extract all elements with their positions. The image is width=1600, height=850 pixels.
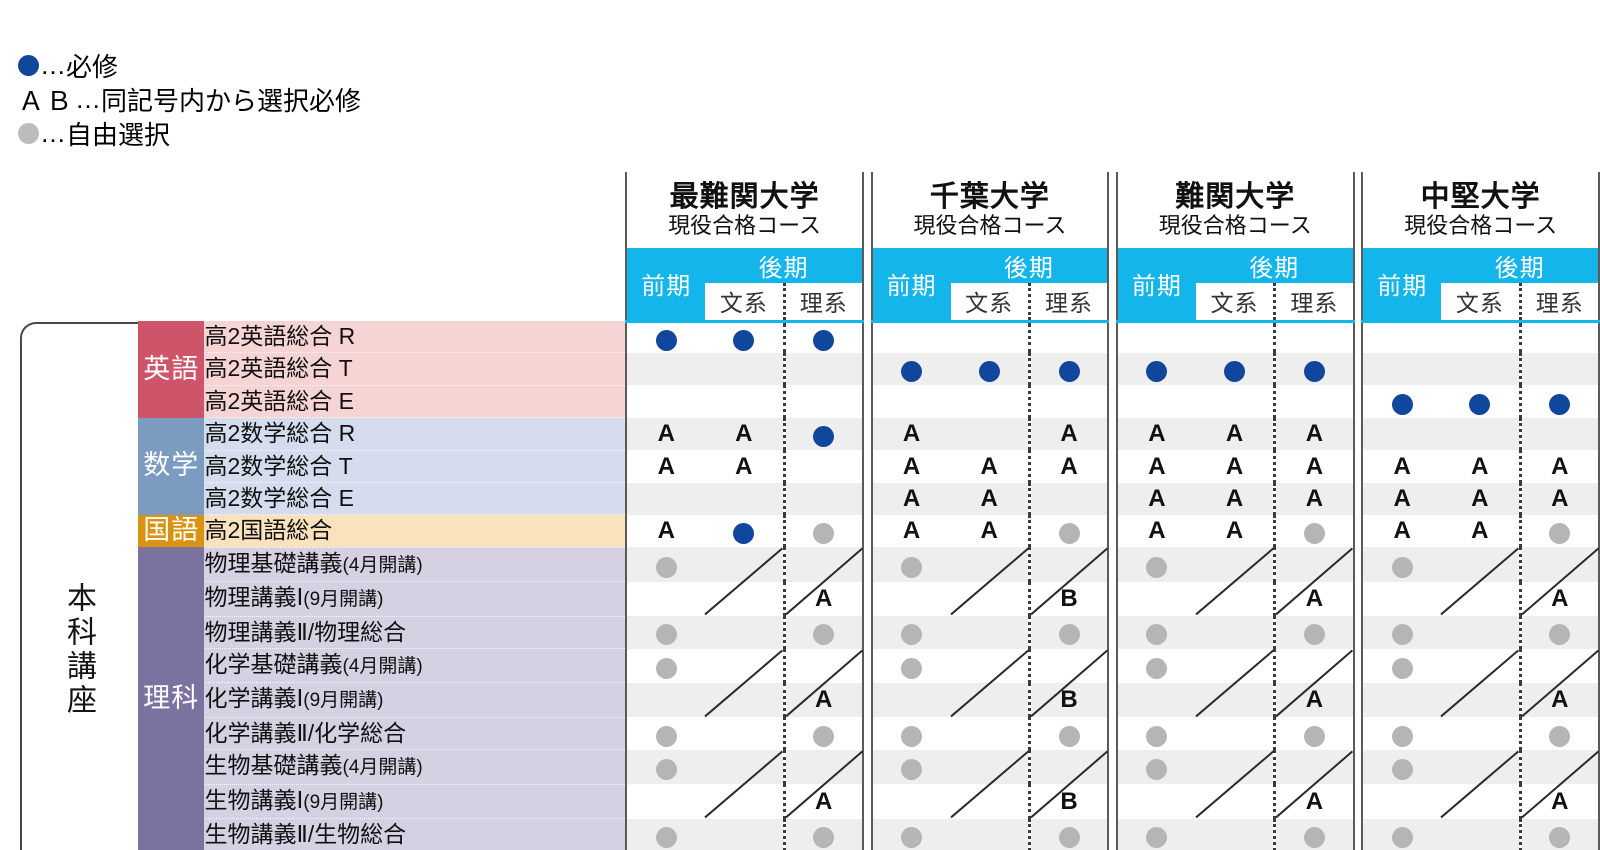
matrix-cell[interactable] xyxy=(1520,649,1599,683)
matrix-cell[interactable] xyxy=(705,784,784,818)
matrix-cell[interactable] xyxy=(872,717,951,749)
matrix-cell[interactable] xyxy=(784,483,863,515)
matrix-cell[interactable] xyxy=(1029,750,1108,784)
matrix-cell[interactable]: A xyxy=(1275,683,1354,717)
matrix-cell[interactable] xyxy=(1117,616,1196,648)
matrix-cell[interactable]: A xyxy=(1275,582,1354,616)
course-note: (4月開講) xyxy=(342,757,422,778)
choice-marker: A xyxy=(951,483,1028,514)
matrix-cell[interactable]: B xyxy=(1029,683,1108,717)
university-name: 最難関大学 xyxy=(627,181,862,213)
matrix-cell[interactable] xyxy=(1275,819,1354,850)
column-gap xyxy=(863,248,872,283)
matrix-cell[interactable]: A xyxy=(1275,418,1354,450)
matrix-cell[interactable]: A xyxy=(872,515,951,547)
table-row: 高2数学総合 TAAAAAAAAAAA xyxy=(18,450,1599,482)
matrix-cell[interactable] xyxy=(784,547,863,581)
matrix-cell[interactable] xyxy=(1441,784,1520,818)
table-row: 本科講座英語高2英語総合 R xyxy=(18,321,1599,353)
subject-block-数学: 数学 xyxy=(138,418,204,515)
matrix-cell[interactable] xyxy=(626,750,705,784)
matrix-cell[interactable] xyxy=(1275,616,1354,648)
matrix-cell[interactable]: A xyxy=(1196,515,1275,547)
matrix-cell[interactable] xyxy=(705,683,784,717)
matrix-cell[interactable] xyxy=(784,819,863,850)
matrix-cell[interactable] xyxy=(1029,717,1108,749)
matrix-cell[interactable] xyxy=(784,717,863,749)
matrix-cell[interactable] xyxy=(951,819,1030,850)
free-choice-dot-icon xyxy=(901,827,922,848)
matrix-cell[interactable] xyxy=(1275,353,1354,385)
matrix-cell[interactable] xyxy=(1117,649,1196,683)
matrix-cell[interactable] xyxy=(1029,321,1108,353)
matrix-cell[interactable]: A xyxy=(951,483,1030,515)
column-gap xyxy=(863,649,872,683)
free-choice-dot-icon xyxy=(901,557,922,578)
matrix-cell[interactable] xyxy=(1520,547,1599,581)
matrix-cell[interactable] xyxy=(1520,353,1599,385)
choice-marker: A xyxy=(786,684,862,715)
matrix-cell[interactable] xyxy=(705,819,784,850)
choice-marker: A xyxy=(1363,515,1441,546)
free-choice-dot-icon xyxy=(656,827,677,848)
course-title: 物理基礎講義 xyxy=(204,550,342,576)
header-subject-blank xyxy=(138,172,204,321)
matrix-cell[interactable]: A xyxy=(784,784,863,818)
course-name: 生物基礎講義(4月開講) xyxy=(204,750,626,784)
matrix-cell[interactable] xyxy=(1441,649,1520,683)
choice-marker: A xyxy=(1441,483,1518,514)
matrix-cell[interactable] xyxy=(626,321,705,353)
matrix-cell[interactable]: A xyxy=(1029,418,1108,450)
matrix-cell[interactable] xyxy=(951,717,1030,749)
required-dot-icon xyxy=(1059,361,1080,382)
column-gap xyxy=(863,418,872,450)
matrix-cell[interactable] xyxy=(705,717,784,749)
matrix-cell[interactable]: A xyxy=(705,418,784,450)
matrix-cell[interactable] xyxy=(1441,683,1520,717)
matrix-cell[interactable] xyxy=(1362,385,1441,417)
matrix-cell[interactable] xyxy=(951,649,1030,683)
matrix-cell[interactable] xyxy=(784,321,863,353)
course-title: 生物講義Ⅰ xyxy=(204,787,303,813)
column-gap xyxy=(863,450,872,482)
column-gap xyxy=(1108,547,1117,581)
matrix-cell[interactable] xyxy=(1196,717,1275,749)
course-name: 化学講義Ⅱ/化学総合 xyxy=(204,717,626,749)
course-title: 高2英語総合 T xyxy=(204,355,352,381)
matrix-cell[interactable]: B xyxy=(1029,784,1108,818)
matrix-cell[interactable]: A xyxy=(1362,483,1441,515)
column-gap xyxy=(1354,385,1363,417)
matrix-cell[interactable] xyxy=(1029,385,1108,417)
matrix-cell[interactable] xyxy=(1196,385,1275,417)
matrix-cell[interactable] xyxy=(951,750,1030,784)
matrix-cell[interactable] xyxy=(1362,649,1441,683)
matrix-cell[interactable]: A xyxy=(784,582,863,616)
matrix-cell[interactable]: A xyxy=(1441,515,1520,547)
matrix-cell[interactable]: A xyxy=(1275,450,1354,482)
matrix-cell[interactable]: A xyxy=(1275,483,1354,515)
table-row: 高2英語総合 T xyxy=(18,353,1599,385)
matrix-cell[interactable] xyxy=(1117,819,1196,850)
matrix-cell[interactable] xyxy=(1441,547,1520,581)
matrix-cell[interactable] xyxy=(1362,750,1441,784)
matrix-cell[interactable]: A xyxy=(1520,582,1599,616)
matrix-cell[interactable] xyxy=(872,649,951,683)
matrix-cell[interactable] xyxy=(1441,385,1520,417)
matrix-cell[interactable] xyxy=(1275,515,1354,547)
university-name: 難関大学 xyxy=(1118,181,1353,213)
matrix-cell[interactable] xyxy=(1362,717,1441,749)
column-gap xyxy=(1108,418,1117,450)
matrix-cell[interactable] xyxy=(1196,353,1275,385)
course-name: 高2国語総合 xyxy=(204,515,626,547)
matrix-cell[interactable] xyxy=(872,582,951,616)
matrix-cell[interactable]: A xyxy=(626,515,705,547)
matrix-cell[interactable] xyxy=(1117,321,1196,353)
choice-marker: A xyxy=(1522,583,1599,614)
matrix-cell[interactable] xyxy=(705,353,784,385)
matrix-cell[interactable]: A xyxy=(626,418,705,450)
matrix-cell[interactable]: A xyxy=(1196,418,1275,450)
choice-marker: A xyxy=(1522,483,1599,514)
matrix-cell[interactable] xyxy=(784,616,863,648)
matrix-cell[interactable] xyxy=(1362,353,1441,385)
column-gap xyxy=(1354,683,1363,717)
course-title: 生物講義Ⅱ/生物総合 xyxy=(204,821,406,847)
matrix-cell[interactable] xyxy=(626,683,705,717)
matrix-cell[interactable] xyxy=(1029,483,1108,515)
matrix-cell[interactable]: A xyxy=(872,450,951,482)
matrix-cell[interactable] xyxy=(951,784,1030,818)
matrix-cell[interactable]: A xyxy=(1520,784,1599,818)
matrix-cell[interactable]: A xyxy=(1362,515,1441,547)
course-title: 高2英語総合 E xyxy=(204,388,354,414)
matrix-cell[interactable] xyxy=(1029,819,1108,850)
matrix-cell[interactable]: A xyxy=(784,683,863,717)
matrix-cell[interactable] xyxy=(705,582,784,616)
matrix-cell[interactable] xyxy=(1196,683,1275,717)
table-row: 高2英語総合 E xyxy=(18,385,1599,417)
matrix-cell[interactable] xyxy=(1362,683,1441,717)
matrix-cell[interactable] xyxy=(626,385,705,417)
required-dot-icon xyxy=(656,330,677,351)
matrix-cell[interactable] xyxy=(872,750,951,784)
choice-marker: A xyxy=(627,418,705,449)
matrix-cell[interactable] xyxy=(1196,321,1275,353)
matrix-cell[interactable] xyxy=(1029,616,1108,648)
matrix-cell[interactable] xyxy=(1196,616,1275,648)
course-title: 物理講義Ⅱ/物理総合 xyxy=(204,619,406,645)
matrix-cell[interactable]: A xyxy=(951,515,1030,547)
column-gap xyxy=(1354,750,1363,784)
matrix-cell[interactable]: A xyxy=(1196,450,1275,482)
matrix-cell[interactable] xyxy=(1362,784,1441,818)
matrix-cell[interactable] xyxy=(951,385,1030,417)
matrix-cell[interactable] xyxy=(872,819,951,850)
matrix-cell[interactable] xyxy=(705,515,784,547)
matrix-cell[interactable] xyxy=(872,547,951,581)
column-gap xyxy=(1354,450,1363,482)
column-gap xyxy=(1108,819,1117,850)
matrix-cell[interactable] xyxy=(1441,750,1520,784)
matrix-cell[interactable] xyxy=(951,683,1030,717)
matrix-cell[interactable] xyxy=(1441,582,1520,616)
matrix-cell[interactable] xyxy=(1196,649,1275,683)
choice-marker: A xyxy=(1196,483,1273,514)
table-row: 国語高2国語総合AAAAAAA xyxy=(18,515,1599,547)
course-name: 生物講義Ⅰ(9月開講) xyxy=(204,784,626,818)
subject-block-国語: 国語 xyxy=(138,515,204,547)
matrix-cell[interactable] xyxy=(1275,385,1354,417)
course-name: 生物講義Ⅱ/生物総合 xyxy=(204,819,626,850)
choice-marker: A xyxy=(1276,583,1352,614)
matrix-cell[interactable] xyxy=(705,321,784,353)
free-choice-dot-icon xyxy=(901,726,922,747)
matrix-cell[interactable] xyxy=(1362,616,1441,648)
matrix-cell[interactable] xyxy=(784,418,863,450)
free-choice-dot-icon xyxy=(813,624,834,645)
column-gap xyxy=(1354,784,1363,818)
matrix-cell[interactable] xyxy=(872,784,951,818)
matrix-cell[interactable] xyxy=(1362,418,1441,450)
course-title: 高2英語総合 R xyxy=(204,323,355,349)
matrix-cell[interactable] xyxy=(626,717,705,749)
course-note: (4月開講) xyxy=(342,555,422,576)
matrix-cell[interactable] xyxy=(951,616,1030,648)
matrix-cell[interactable]: B xyxy=(1029,582,1108,616)
matrix-cell[interactable] xyxy=(1275,649,1354,683)
matrix-cell[interactable] xyxy=(1196,784,1275,818)
course-name: 高2数学総合 R xyxy=(204,418,626,450)
matrix-cell[interactable] xyxy=(1362,819,1441,850)
matrix-cell[interactable] xyxy=(1362,321,1441,353)
matrix-cell[interactable] xyxy=(872,616,951,648)
matrix-cell[interactable] xyxy=(951,353,1030,385)
required-dot-icon xyxy=(1304,361,1325,382)
free-choice-dot-icon xyxy=(1304,523,1325,544)
university-header-2: 千葉大学現役合格コース xyxy=(872,172,1109,248)
matrix-cell[interactable] xyxy=(1117,385,1196,417)
free-choice-dot-icon xyxy=(656,624,677,645)
matrix-cell[interactable] xyxy=(1520,515,1599,547)
matrix-cell[interactable]: A xyxy=(626,450,705,482)
matrix-cell[interactable] xyxy=(1520,418,1599,450)
matrix-cell[interactable] xyxy=(1275,547,1354,581)
free-choice-dot-icon xyxy=(1146,726,1167,747)
matrix-cell[interactable]: A xyxy=(1117,418,1196,450)
matrix-cell[interactable]: A xyxy=(951,450,1030,482)
matrix-cell[interactable] xyxy=(626,784,705,818)
matrix-cell[interactable] xyxy=(1117,750,1196,784)
required-dot-icon xyxy=(901,361,922,382)
matrix-cell[interactable] xyxy=(1117,683,1196,717)
matrix-cell[interactable]: A xyxy=(872,483,951,515)
column-gap xyxy=(1108,717,1117,749)
column-gap xyxy=(863,385,872,417)
legend-free-sep: … xyxy=(40,118,66,149)
table-row: 生物講義Ⅱ/生物総合 xyxy=(18,819,1599,850)
choice-marker: A xyxy=(1196,451,1273,482)
matrix-cell[interactable] xyxy=(784,450,863,482)
matrix-cell[interactable]: A xyxy=(1520,683,1599,717)
header-university-row: 最難関大学現役合格コース千葉大学現役合格コース難関大学現役合格コース中堅大学現役… xyxy=(18,172,1599,248)
matrix-cell[interactable]: A xyxy=(705,450,784,482)
matrix-cell[interactable] xyxy=(1275,321,1354,353)
matrix-cell[interactable] xyxy=(1196,582,1275,616)
matrix-cell[interactable] xyxy=(1520,717,1599,749)
free-choice-dot-icon xyxy=(813,523,834,544)
course-name: 化学講義Ⅰ(9月開講) xyxy=(204,683,626,717)
matrix-cell[interactable]: A xyxy=(1275,784,1354,818)
matrix-cell[interactable] xyxy=(1275,717,1354,749)
term-first-2: 前期 xyxy=(872,248,951,321)
free-choice-dot-icon xyxy=(1059,726,1080,747)
column-gap xyxy=(1354,283,1363,321)
required-dot-icon xyxy=(1392,394,1413,415)
matrix-cell[interactable] xyxy=(1441,717,1520,749)
matrix-cell[interactable]: A xyxy=(1117,515,1196,547)
course-note: (9月開講) xyxy=(303,792,383,813)
column-gap xyxy=(1108,649,1117,683)
university-header-1: 最難関大学現役合格コース xyxy=(626,172,863,248)
matrix-cell[interactable] xyxy=(626,483,705,515)
matrix-cell[interactable] xyxy=(1029,353,1108,385)
choice-marker: A xyxy=(951,515,1028,546)
matrix-cell[interactable] xyxy=(705,616,784,648)
matrix-cell[interactable]: A xyxy=(1441,450,1520,482)
legend-item-free: … 自由選択 xyxy=(18,116,578,150)
matrix-cell[interactable] xyxy=(784,515,863,547)
matrix-cell[interactable] xyxy=(872,321,951,353)
matrix-cell[interactable] xyxy=(1520,616,1599,648)
matrix-cell[interactable] xyxy=(1117,353,1196,385)
free-choice-dot-icon xyxy=(1146,658,1167,679)
matrix-cell[interactable] xyxy=(1196,750,1275,784)
legend: … 必修 ＡＢ … 同記号内から選択必修 … 自由選択 xyxy=(18,48,578,150)
choice-marker: A xyxy=(705,418,782,449)
university-header-4: 中堅大学現役合格コース xyxy=(1362,172,1599,248)
matrix-cell[interactable] xyxy=(1117,547,1196,581)
matrix-cell[interactable] xyxy=(872,385,951,417)
course-title: 化学講義Ⅰ xyxy=(204,685,303,711)
free-choice-dot-icon xyxy=(1304,726,1325,747)
matrix-cell[interactable] xyxy=(1117,784,1196,818)
matrix-cell[interactable]: A xyxy=(1029,450,1108,482)
choice-marker: A xyxy=(1441,515,1518,546)
matrix-cell[interactable] xyxy=(1520,385,1599,417)
matrix-cell[interactable] xyxy=(784,649,863,683)
matrix-cell[interactable] xyxy=(951,547,1030,581)
matrix-cell[interactable]: A xyxy=(1520,483,1599,515)
course-title: 高2数学総合 E xyxy=(204,485,354,511)
matrix-cell[interactable] xyxy=(1029,515,1108,547)
matrix-cell[interactable] xyxy=(872,353,951,385)
matrix-cell[interactable]: A xyxy=(1362,450,1441,482)
free-choice-dot-icon xyxy=(1549,827,1570,848)
choice-marker: A xyxy=(1031,451,1107,482)
matrix-cell[interactable] xyxy=(1441,321,1520,353)
column-gap xyxy=(863,547,872,581)
column-gap xyxy=(1108,353,1117,385)
matrix-cell[interactable] xyxy=(705,385,784,417)
matrix-cell[interactable] xyxy=(1196,819,1275,850)
choice-marker: A xyxy=(1441,451,1518,482)
term-first-3: 前期 xyxy=(1117,248,1196,321)
matrix-cell[interactable] xyxy=(1441,353,1520,385)
matrix-cell[interactable] xyxy=(1520,750,1599,784)
matrix-cell[interactable] xyxy=(1441,616,1520,648)
matrix-cell[interactable] xyxy=(705,483,784,515)
course-title: 高2数学総合 R xyxy=(204,420,355,446)
matrix-cell[interactable] xyxy=(1029,649,1108,683)
column-gap xyxy=(863,353,872,385)
required-dot-icon xyxy=(813,426,834,447)
matrix-cell[interactable] xyxy=(951,321,1030,353)
matrix-cell[interactable] xyxy=(626,819,705,850)
matrix-cell[interactable] xyxy=(626,616,705,648)
column-gap xyxy=(1108,483,1117,515)
course-name: 物理基礎講義(4月開講) xyxy=(204,547,626,581)
matrix-cell[interactable] xyxy=(1362,582,1441,616)
column-gap xyxy=(1354,483,1363,515)
matrix-cell[interactable] xyxy=(951,582,1030,616)
matrix-cell[interactable] xyxy=(705,750,784,784)
matrix-cell[interactable] xyxy=(1520,321,1599,353)
matrix-cell[interactable] xyxy=(1117,717,1196,749)
matrix-cell[interactable] xyxy=(705,547,784,581)
matrix-cell[interactable] xyxy=(784,353,863,385)
curriculum-chart: … 必修 ＡＢ … 同記号内から選択必修 … 自由選択 最難関大学現役合格コース… xyxy=(0,0,1600,850)
matrix-cell[interactable] xyxy=(626,547,705,581)
bracket: 本科講座 xyxy=(18,321,138,850)
matrix-cell[interactable]: A xyxy=(872,418,951,450)
table-row: 生物講義Ⅰ(9月開講)ABAA xyxy=(18,784,1599,818)
choice-marker: A xyxy=(1276,418,1352,449)
matrix-cell[interactable] xyxy=(1362,547,1441,581)
matrix-cell[interactable]: A xyxy=(1117,483,1196,515)
required-dot-icon xyxy=(733,523,754,544)
matrix-cell[interactable]: A xyxy=(1196,483,1275,515)
matrix-cell[interactable] xyxy=(626,649,705,683)
matrix-cell[interactable]: A xyxy=(1117,450,1196,482)
matrix-cell[interactable] xyxy=(1520,819,1599,850)
matrix-cell[interactable]: A xyxy=(1441,483,1520,515)
column-gap xyxy=(863,750,872,784)
matrix-cell[interactable] xyxy=(951,418,1030,450)
matrix-cell[interactable] xyxy=(626,353,705,385)
matrix-cell[interactable] xyxy=(1441,819,1520,850)
matrix-cell[interactable]: A xyxy=(1520,450,1599,482)
matrix-cell[interactable] xyxy=(1441,418,1520,450)
matrix-cell[interactable] xyxy=(705,649,784,683)
header-corner-blank xyxy=(18,172,138,321)
track-science-1: 理系 xyxy=(784,283,863,321)
course-name: 高2英語総合 T xyxy=(204,353,626,385)
course-name: 物理講義Ⅱ/物理総合 xyxy=(204,616,626,648)
matrix-cell[interactable] xyxy=(784,750,863,784)
table-row: 化学講義Ⅱ/化学総合 xyxy=(18,717,1599,749)
matrix-cell[interactable] xyxy=(1029,547,1108,581)
matrix-cell[interactable] xyxy=(1117,582,1196,616)
matrix-cell[interactable] xyxy=(872,683,951,717)
matrix-cell[interactable] xyxy=(784,385,863,417)
matrix-cell[interactable] xyxy=(626,582,705,616)
column-gap xyxy=(863,683,872,717)
matrix-cell[interactable] xyxy=(1196,547,1275,581)
matrix-cell[interactable] xyxy=(1275,750,1354,784)
